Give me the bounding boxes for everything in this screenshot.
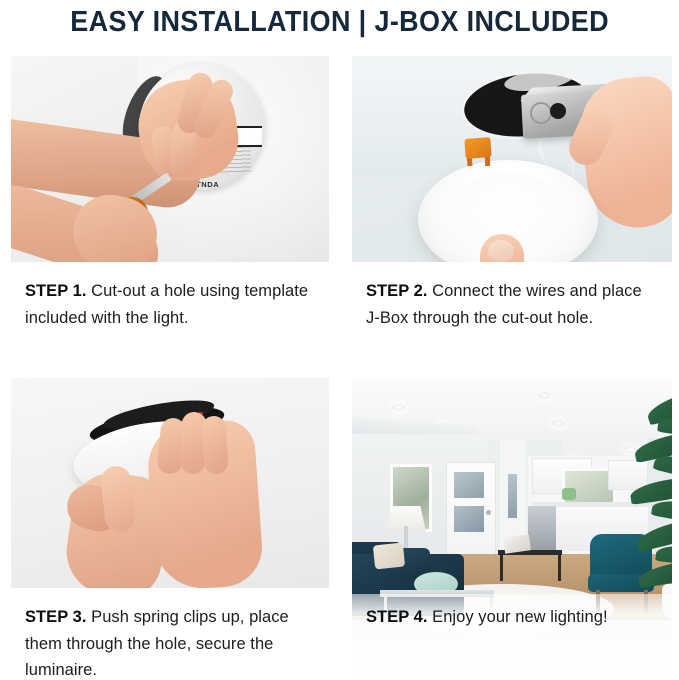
step-caption-4: STEP 4. Enjoy your new lighting! — [352, 594, 672, 680]
step-label-2: STEP 2. — [366, 282, 428, 300]
thumbnail — [488, 240, 514, 262]
header: EASY INSTALLATION | J-BOX INCLUDED — [0, 0, 679, 44]
step-label-1: STEP 1. — [25, 282, 87, 300]
potted-plant — [628, 396, 672, 620]
step-card-1: OUT PLATE PARTNDA STEP 1. Cut-out a hole… — [11, 56, 329, 356]
jbox-connector — [550, 103, 566, 119]
step-card-2: STEP 2. Connect the wires and place J-Bo… — [352, 56, 672, 356]
page-title: EASY INSTALLATION | J-BOX INCLUDED — [70, 6, 609, 39]
photo-connect-jbox — [352, 56, 672, 262]
recessed-light-icon — [552, 420, 565, 427]
jbox-knockout-ring — [530, 102, 552, 124]
step-caption-2: STEP 2. Connect the wires and place J-Bo… — [352, 262, 672, 356]
step-card-4: STEP 4. Enjoy your new lighting! — [352, 378, 672, 680]
step-text-4: Enjoy your new lighting! — [428, 608, 608, 626]
orange-spring-clip — [464, 137, 491, 159]
photo-cut-hole: OUT PLATE PARTNDA — [11, 56, 329, 262]
sofa-cushion — [373, 542, 405, 569]
recessed-light-icon — [538, 392, 551, 399]
step-card-3: STEP 3. Push spring clips up, place them… — [11, 378, 329, 680]
bench-leg — [558, 555, 561, 581]
door-knob — [486, 510, 491, 515]
step-label-3: STEP 3. — [25, 608, 87, 626]
step-label-4: STEP 4. — [366, 608, 428, 626]
photo-push-clips — [11, 378, 329, 588]
bench-leg — [500, 555, 503, 581]
step-caption-3: STEP 3. Push spring clips up, place them… — [11, 588, 329, 680]
door-glass-panel — [454, 506, 484, 532]
pillar-glass-slot — [508, 474, 517, 518]
door-glass-panel — [454, 472, 484, 498]
installation-steps-infographic: EASY INSTALLATION | J-BOX INCLUDED OUT P… — [0, 0, 679, 680]
counter-plant — [562, 488, 576, 500]
finger — [201, 415, 229, 475]
step-caption-1: STEP 1. Cut-out a hole using template in… — [11, 262, 329, 356]
dishwasher — [528, 506, 556, 550]
recessed-light-icon — [392, 404, 405, 411]
